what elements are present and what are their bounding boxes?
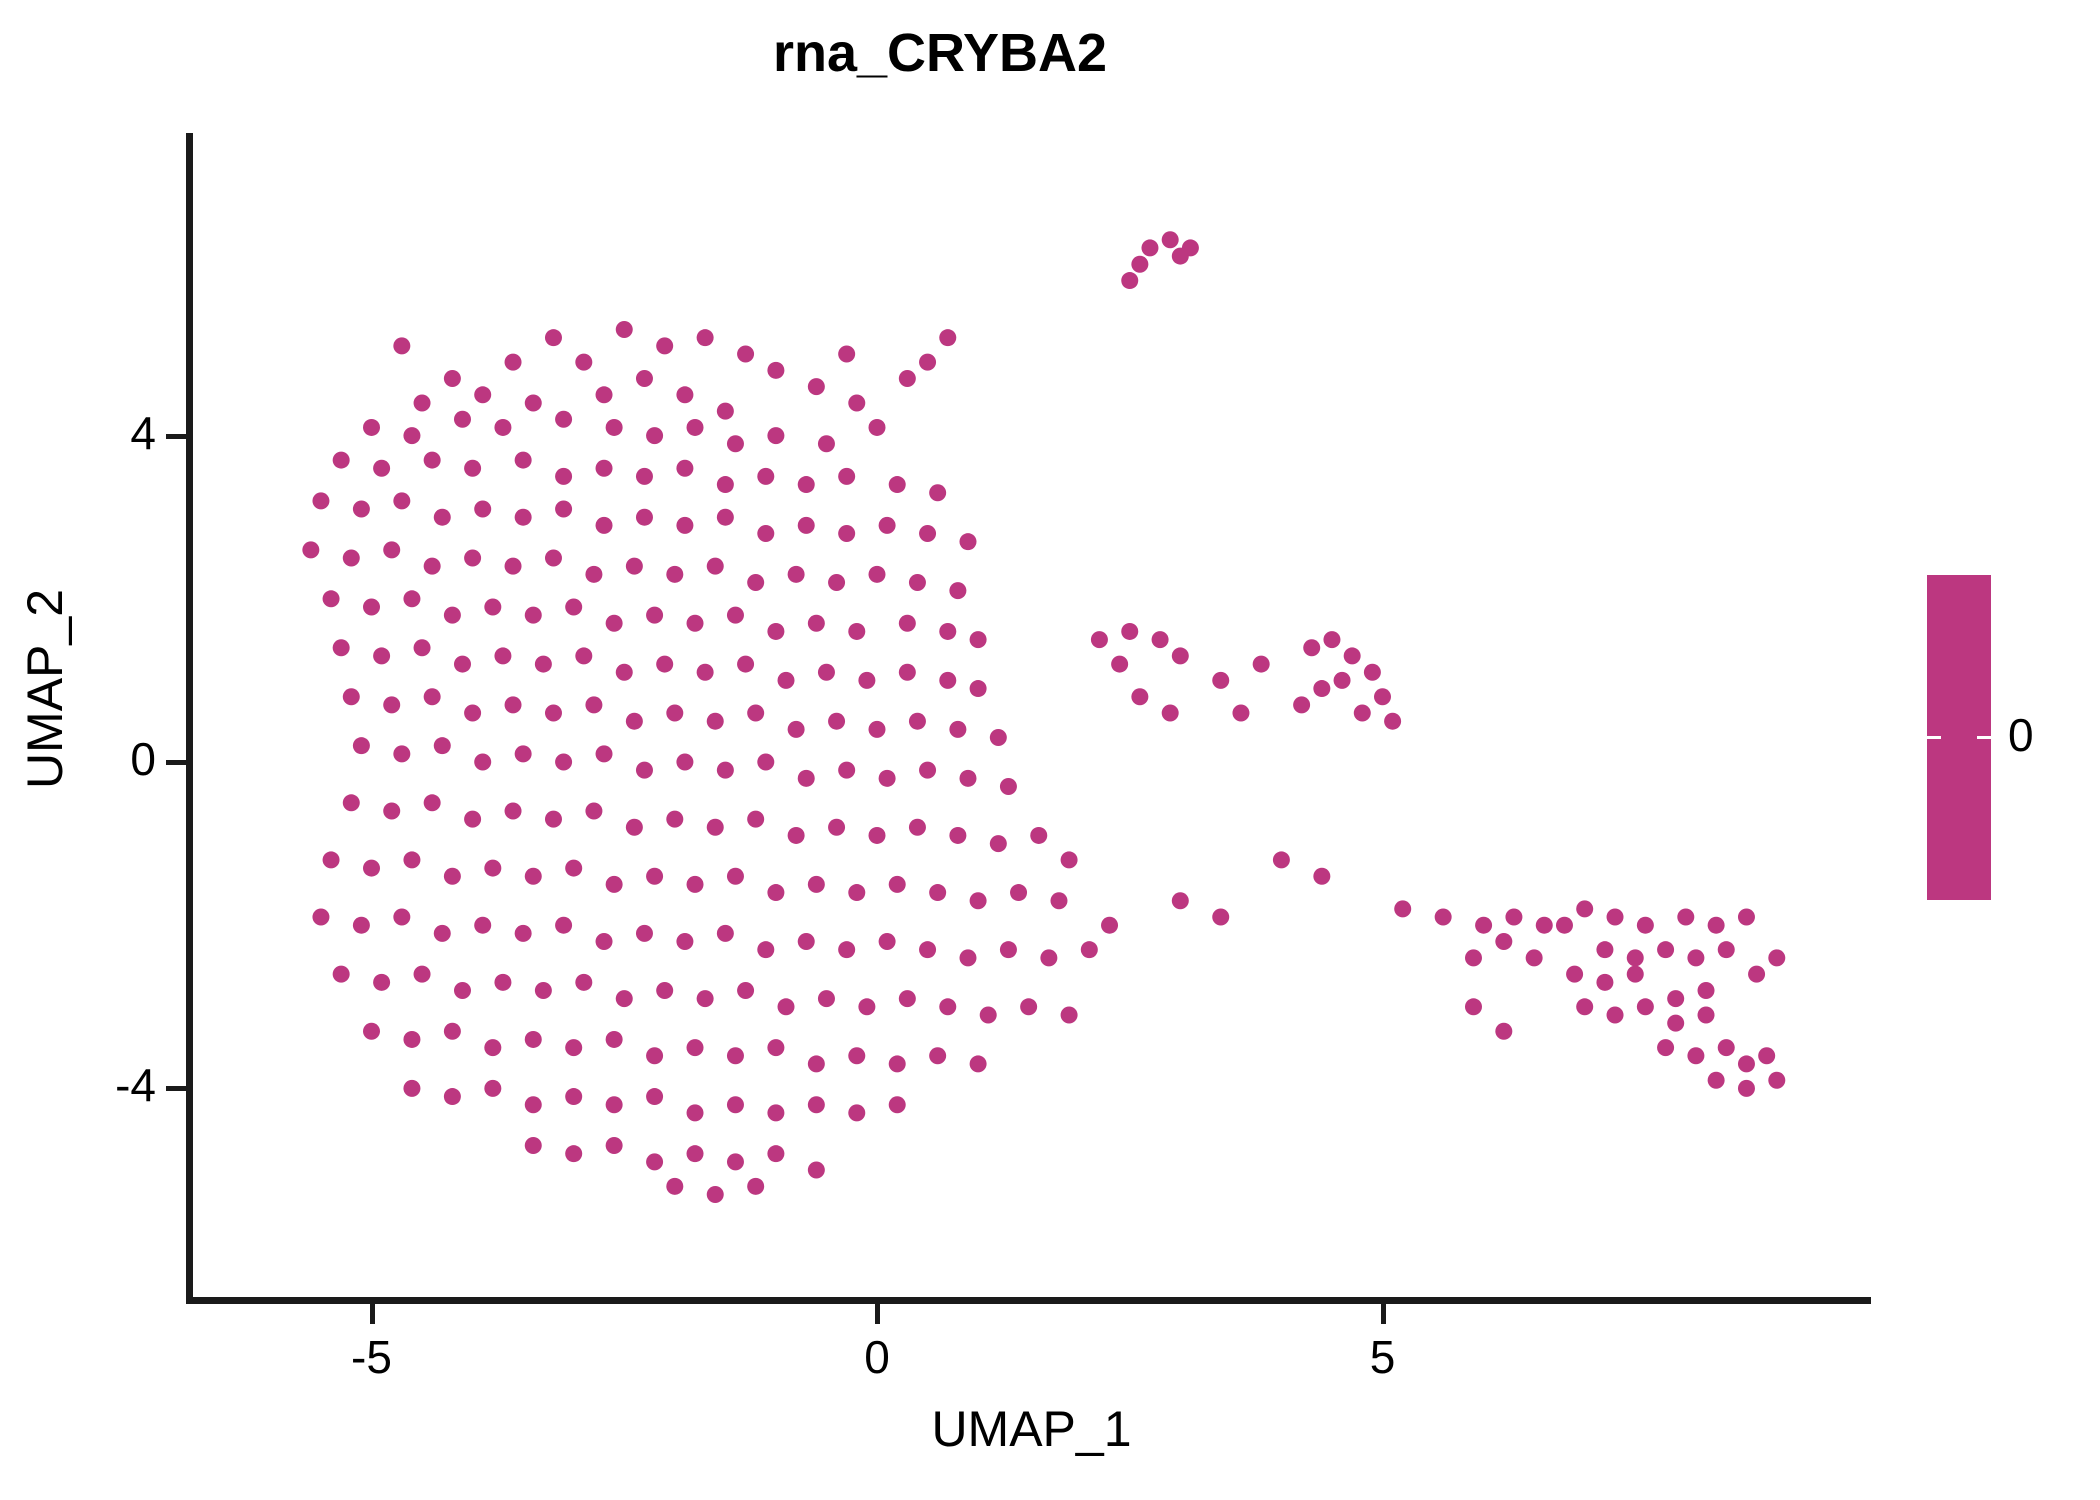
scatter-point bbox=[555, 501, 572, 518]
scatter-point bbox=[1556, 917, 1573, 934]
scatter-point bbox=[1576, 998, 1593, 1015]
scatter-point bbox=[403, 851, 420, 868]
scatter-point bbox=[535, 656, 552, 673]
scatter-point bbox=[1323, 631, 1340, 648]
scatter-point bbox=[525, 1096, 542, 1113]
scatter-point bbox=[383, 696, 400, 713]
scatter-point bbox=[717, 476, 734, 493]
legend-tick-right bbox=[1977, 736, 1991, 739]
scatter-point bbox=[545, 329, 562, 346]
scatter-point bbox=[1667, 990, 1684, 1007]
scatter-point bbox=[1596, 974, 1613, 991]
scatter-point bbox=[434, 509, 451, 526]
scatter-point bbox=[646, 1047, 663, 1064]
scatter-point bbox=[363, 419, 380, 436]
scatter-point bbox=[343, 550, 360, 567]
scatter-point bbox=[1152, 631, 1169, 648]
legend-tick-label: 0 bbox=[2008, 708, 2034, 762]
scatter-point bbox=[575, 354, 592, 371]
scatter-point bbox=[828, 819, 845, 836]
scatter-point bbox=[676, 460, 693, 477]
scatter-point bbox=[1657, 941, 1674, 958]
scatter-point bbox=[393, 745, 410, 762]
scatter-point bbox=[414, 394, 431, 411]
scatter-point bbox=[373, 974, 390, 991]
scatter-point bbox=[464, 550, 481, 567]
scatter-point bbox=[585, 696, 602, 713]
scatter-point bbox=[848, 884, 865, 901]
scatter-point bbox=[889, 1055, 906, 1072]
scatter-points-layer bbox=[192, 133, 1871, 1300]
scatter-point bbox=[1111, 656, 1128, 673]
scatter-point bbox=[687, 1145, 704, 1162]
scatter-point bbox=[565, 1039, 582, 1056]
scatter-point bbox=[687, 419, 704, 436]
scatter-point bbox=[494, 974, 511, 991]
scatter-point bbox=[838, 941, 855, 958]
scatter-point bbox=[929, 484, 946, 501]
scatter-point bbox=[596, 460, 613, 477]
scatter-point bbox=[889, 1096, 906, 1113]
scatter-point bbox=[798, 933, 815, 950]
scatter-point bbox=[909, 574, 926, 591]
scatter-point bbox=[1061, 1006, 1078, 1023]
scatter-point bbox=[585, 566, 602, 583]
scatter-point bbox=[1101, 917, 1118, 934]
legend-tick-left bbox=[1927, 736, 1941, 739]
scatter-point bbox=[515, 452, 532, 469]
scatter-point bbox=[626, 819, 643, 836]
scatter-point bbox=[747, 1178, 764, 1195]
scatter-point bbox=[757, 941, 774, 958]
scatter-point bbox=[1253, 656, 1270, 673]
scatter-point bbox=[373, 647, 390, 664]
scatter-point bbox=[1465, 949, 1482, 966]
scatter-point bbox=[1738, 1080, 1755, 1097]
scatter-point bbox=[1738, 1055, 1755, 1072]
scatter-point bbox=[838, 525, 855, 542]
scatter-point bbox=[616, 321, 633, 338]
scatter-point bbox=[858, 998, 875, 1015]
scatter-point bbox=[333, 639, 350, 656]
scatter-point bbox=[1293, 696, 1310, 713]
scatter-point bbox=[949, 827, 966, 844]
scatter-point bbox=[949, 721, 966, 738]
scatter-point bbox=[808, 378, 825, 395]
scatter-point bbox=[444, 1023, 461, 1040]
scatter-point bbox=[312, 492, 329, 509]
scatter-point bbox=[717, 925, 734, 942]
scatter-point bbox=[1273, 851, 1290, 868]
scatter-point bbox=[798, 517, 815, 534]
scatter-point bbox=[596, 517, 613, 534]
scatter-point bbox=[788, 566, 805, 583]
scatter-point bbox=[707, 819, 724, 836]
scatter-point bbox=[879, 933, 896, 950]
scatter-point bbox=[515, 509, 532, 526]
scatter-point bbox=[818, 435, 835, 452]
scatter-point bbox=[434, 925, 451, 942]
scatter-point bbox=[596, 386, 613, 403]
y-tick-mark bbox=[166, 1086, 186, 1091]
y-tick-label: -4 bbox=[36, 1058, 156, 1112]
scatter-point bbox=[767, 427, 784, 444]
scatter-point bbox=[848, 1104, 865, 1121]
scatter-point bbox=[575, 974, 592, 991]
scatter-point bbox=[555, 917, 572, 934]
scatter-point bbox=[525, 607, 542, 624]
scatter-point bbox=[899, 370, 916, 387]
scatter-point bbox=[1040, 949, 1057, 966]
scatter-point bbox=[363, 860, 380, 877]
scatter-point bbox=[1698, 1006, 1715, 1023]
scatter-point bbox=[697, 329, 714, 346]
scatter-point bbox=[484, 598, 501, 615]
scatter-point bbox=[596, 745, 613, 762]
scatter-point bbox=[515, 925, 532, 942]
scatter-series bbox=[302, 231, 1785, 1203]
scatter-point bbox=[666, 566, 683, 583]
scatter-point bbox=[828, 713, 845, 730]
scatter-point bbox=[1718, 941, 1735, 958]
scatter-point bbox=[767, 362, 784, 379]
scatter-point bbox=[403, 427, 420, 444]
scatter-point bbox=[707, 1186, 724, 1203]
scatter-point bbox=[676, 933, 693, 950]
scatter-point bbox=[1000, 778, 1017, 795]
scatter-point bbox=[646, 607, 663, 624]
scatter-point bbox=[1313, 868, 1330, 885]
scatter-point bbox=[767, 1039, 784, 1056]
scatter-point bbox=[1637, 917, 1654, 934]
scatter-point bbox=[414, 966, 431, 983]
y-tick-mark bbox=[166, 760, 186, 765]
scatter-point bbox=[727, 1096, 744, 1113]
scatter-point bbox=[808, 1162, 825, 1179]
scatter-point bbox=[727, 868, 744, 885]
umap-feature-plot: rna_CRYBA2 -505 -404 UMAP_1 UMAP_2 0 bbox=[0, 0, 2100, 1500]
scatter-point bbox=[990, 729, 1007, 746]
scatter-point bbox=[464, 705, 481, 722]
scatter-point bbox=[363, 598, 380, 615]
scatter-point bbox=[505, 696, 522, 713]
scatter-point bbox=[333, 966, 350, 983]
scatter-point bbox=[474, 386, 491, 403]
y-axis-title: UMAP_2 bbox=[16, 389, 74, 989]
scatter-point bbox=[424, 452, 441, 469]
scatter-point bbox=[869, 419, 886, 436]
scatter-point bbox=[1667, 1015, 1684, 1032]
scatter-point bbox=[393, 492, 410, 509]
scatter-point bbox=[1141, 239, 1158, 256]
scatter-point bbox=[444, 370, 461, 387]
x-tick-label: 5 bbox=[1303, 1330, 1463, 1384]
scatter-point bbox=[909, 713, 926, 730]
scatter-point bbox=[484, 1039, 501, 1056]
scatter-point bbox=[1000, 941, 1017, 958]
scatter-point bbox=[555, 411, 572, 428]
scatter-point bbox=[454, 411, 471, 428]
scatter-point bbox=[444, 1088, 461, 1105]
scatter-point bbox=[1121, 623, 1138, 640]
scatter-point bbox=[555, 754, 572, 771]
scatter-point bbox=[1708, 917, 1725, 934]
scatter-point bbox=[1576, 900, 1593, 917]
scatter-point bbox=[393, 909, 410, 926]
scatter-point bbox=[646, 1153, 663, 1170]
scatter-point bbox=[1748, 966, 1765, 983]
scatter-point bbox=[454, 656, 471, 673]
scatter-point bbox=[565, 1088, 582, 1105]
scatter-point bbox=[1768, 1072, 1785, 1089]
scatter-point bbox=[302, 541, 319, 558]
scatter-point bbox=[1708, 1072, 1725, 1089]
scatter-point bbox=[606, 876, 623, 893]
scatter-point bbox=[535, 982, 552, 999]
scatter-point bbox=[1435, 909, 1452, 926]
scatter-point bbox=[626, 713, 643, 730]
scatter-point bbox=[1354, 705, 1371, 722]
scatter-point bbox=[707, 713, 724, 730]
scatter-point bbox=[757, 525, 774, 542]
scatter-point bbox=[899, 615, 916, 632]
scatter-point bbox=[1182, 239, 1199, 256]
scatter-point bbox=[1607, 909, 1624, 926]
scatter-point bbox=[353, 501, 370, 518]
scatter-point bbox=[393, 337, 410, 354]
scatter-point bbox=[343, 794, 360, 811]
scatter-point bbox=[869, 566, 886, 583]
scatter-point bbox=[939, 329, 956, 346]
scatter-point bbox=[474, 917, 491, 934]
scatter-point bbox=[1081, 941, 1098, 958]
scatter-point bbox=[424, 794, 441, 811]
scatter-point bbox=[1131, 256, 1148, 273]
scatter-point bbox=[939, 998, 956, 1015]
scatter-point bbox=[697, 990, 714, 1007]
scatter-point bbox=[626, 558, 643, 575]
scatter-point bbox=[606, 1096, 623, 1113]
scatter-point bbox=[1313, 680, 1330, 697]
scatter-point bbox=[454, 982, 471, 999]
scatter-point bbox=[1596, 941, 1613, 958]
scatter-point bbox=[656, 656, 673, 673]
x-tick-mark bbox=[1381, 1304, 1386, 1324]
scatter-point bbox=[1061, 851, 1078, 868]
scatter-point bbox=[1718, 1039, 1735, 1056]
scatter-point bbox=[606, 1137, 623, 1154]
scatter-point bbox=[646, 868, 663, 885]
scatter-point bbox=[697, 664, 714, 681]
scatter-point bbox=[727, 435, 744, 452]
scatter-point bbox=[1334, 672, 1351, 689]
scatter-point bbox=[383, 802, 400, 819]
scatter-point bbox=[889, 876, 906, 893]
scatter-point bbox=[838, 468, 855, 485]
scatter-point bbox=[778, 998, 795, 1015]
scatter-point bbox=[1172, 647, 1189, 664]
scatter-point bbox=[505, 558, 522, 575]
scatter-point bbox=[312, 909, 329, 926]
scatter-point bbox=[343, 688, 360, 705]
scatter-point bbox=[788, 827, 805, 844]
scatter-point bbox=[949, 582, 966, 599]
scatter-point bbox=[1687, 1047, 1704, 1064]
scatter-point bbox=[636, 468, 653, 485]
scatter-point bbox=[525, 868, 542, 885]
scatter-point bbox=[727, 1047, 744, 1064]
scatter-point bbox=[798, 476, 815, 493]
scatter-point bbox=[363, 1023, 380, 1040]
scatter-point bbox=[646, 1088, 663, 1105]
scatter-point bbox=[596, 933, 613, 950]
scatter-point bbox=[353, 917, 370, 934]
scatter-point bbox=[636, 762, 653, 779]
scatter-point bbox=[606, 419, 623, 436]
scatter-point bbox=[403, 1031, 420, 1048]
scatter-point bbox=[1394, 900, 1411, 917]
scatter-point bbox=[1212, 672, 1229, 689]
scatter-point bbox=[808, 1096, 825, 1113]
scatter-point bbox=[1232, 705, 1249, 722]
scatter-point bbox=[1344, 647, 1361, 664]
scatter-point bbox=[494, 647, 511, 664]
scatter-point bbox=[1303, 639, 1320, 656]
scatter-point bbox=[575, 647, 592, 664]
scatter-point bbox=[970, 680, 987, 697]
scatter-point bbox=[606, 615, 623, 632]
scatter-point bbox=[1374, 688, 1391, 705]
scatter-point bbox=[565, 860, 582, 877]
scatter-point bbox=[717, 762, 734, 779]
scatter-point bbox=[767, 1104, 784, 1121]
scatter-point bbox=[848, 623, 865, 640]
scatter-point bbox=[970, 631, 987, 648]
scatter-point bbox=[424, 558, 441, 575]
scatter-point bbox=[687, 1039, 704, 1056]
scatter-point bbox=[848, 1047, 865, 1064]
scatter-point bbox=[838, 762, 855, 779]
scatter-point bbox=[1495, 1023, 1512, 1040]
scatter-point bbox=[828, 574, 845, 591]
scatter-point bbox=[585, 802, 602, 819]
scatter-point bbox=[1475, 917, 1492, 934]
scatter-point bbox=[687, 615, 704, 632]
scatter-point bbox=[1050, 892, 1067, 909]
scatter-point bbox=[515, 745, 532, 762]
plot-area bbox=[192, 133, 1871, 1300]
scatter-point bbox=[636, 370, 653, 387]
scatter-point bbox=[444, 868, 461, 885]
scatter-point bbox=[737, 346, 754, 363]
scatter-point bbox=[1698, 982, 1715, 999]
scatter-point bbox=[545, 550, 562, 567]
scatter-point bbox=[727, 607, 744, 624]
scatter-point bbox=[1687, 949, 1704, 966]
scatter-point bbox=[666, 705, 683, 722]
scatter-point bbox=[687, 876, 704, 893]
scatter-point bbox=[1758, 1047, 1775, 1064]
scatter-point bbox=[990, 835, 1007, 852]
scatter-point bbox=[525, 1031, 542, 1048]
scatter-point bbox=[414, 639, 431, 656]
scatter-point bbox=[525, 1137, 542, 1154]
scatter-point bbox=[403, 590, 420, 607]
scatter-point bbox=[929, 1047, 946, 1064]
scatter-point bbox=[848, 394, 865, 411]
scatter-point bbox=[676, 754, 693, 771]
scatter-point bbox=[1566, 966, 1583, 983]
scatter-point bbox=[1364, 664, 1381, 681]
scatter-point bbox=[687, 1104, 704, 1121]
scatter-point bbox=[666, 1178, 683, 1195]
scatter-point bbox=[869, 721, 886, 738]
scatter-point bbox=[757, 754, 774, 771]
scatter-point bbox=[980, 1006, 997, 1023]
legend-colorbar[interactable]: 0 bbox=[1920, 575, 2090, 905]
scatter-point bbox=[788, 721, 805, 738]
scatter-point bbox=[464, 811, 481, 828]
scatter-point bbox=[656, 337, 673, 354]
scatter-point bbox=[757, 468, 774, 485]
scatter-point bbox=[939, 672, 956, 689]
scatter-point bbox=[1637, 998, 1654, 1015]
scatter-point bbox=[474, 501, 491, 518]
scatter-point bbox=[818, 990, 835, 1007]
scatter-point bbox=[1768, 949, 1785, 966]
scatter-point bbox=[707, 558, 724, 575]
scatter-point bbox=[545, 811, 562, 828]
scatter-point bbox=[666, 811, 683, 828]
scatter-point bbox=[484, 1080, 501, 1097]
y-tick-mark bbox=[166, 434, 186, 439]
scatter-point bbox=[1526, 949, 1543, 966]
scatter-point bbox=[1010, 884, 1027, 901]
scatter-point bbox=[778, 672, 795, 689]
scatter-point bbox=[959, 533, 976, 550]
page-title: rna_CRYBA2 bbox=[0, 22, 1880, 84]
scatter-point bbox=[879, 517, 896, 534]
scatter-point bbox=[545, 705, 562, 722]
scatter-point bbox=[1121, 272, 1138, 289]
scatter-point bbox=[970, 892, 987, 909]
scatter-point bbox=[676, 386, 693, 403]
scatter-point bbox=[970, 1055, 987, 1072]
scatter-point bbox=[808, 1055, 825, 1072]
scatter-point bbox=[1738, 909, 1755, 926]
scatter-point bbox=[747, 705, 764, 722]
scatter-point bbox=[1162, 231, 1179, 248]
scatter-point bbox=[1172, 892, 1189, 909]
scatter-point bbox=[919, 525, 936, 542]
scatter-point bbox=[1627, 949, 1644, 966]
x-tick-mark bbox=[875, 1304, 880, 1324]
scatter-point bbox=[616, 990, 633, 1007]
scatter-point bbox=[434, 737, 451, 754]
x-tick-label: -5 bbox=[292, 1330, 452, 1384]
scatter-point bbox=[616, 664, 633, 681]
scatter-point bbox=[1020, 998, 1037, 1015]
scatter-point bbox=[1030, 827, 1047, 844]
scatter-point bbox=[909, 819, 926, 836]
scatter-point bbox=[383, 541, 400, 558]
scatter-point bbox=[767, 884, 784, 901]
scatter-point bbox=[1465, 998, 1482, 1015]
scatter-point bbox=[494, 419, 511, 436]
scatter-point bbox=[606, 1031, 623, 1048]
scatter-point bbox=[747, 811, 764, 828]
scatter-point bbox=[869, 827, 886, 844]
